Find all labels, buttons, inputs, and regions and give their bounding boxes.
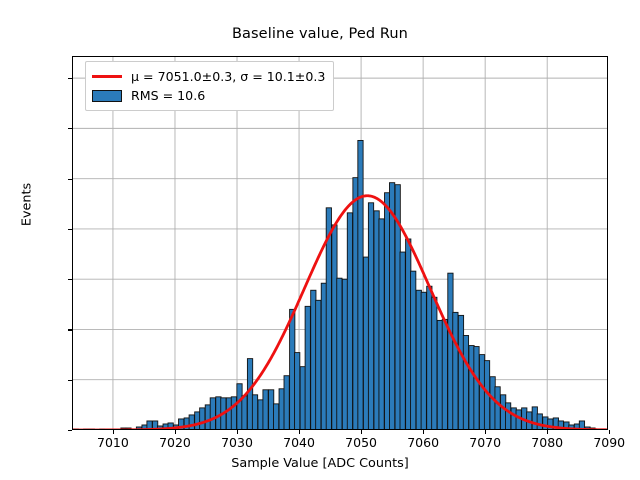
x-tick-mark [423, 430, 424, 434]
figure-canvas: Baseline value, Ped Run 0501001502002503… [0, 0, 640, 480]
x-tick-label: 7030 [221, 435, 253, 450]
gaussian-fit-curve [72, 56, 608, 430]
red-line-swatch-icon [92, 75, 122, 78]
blue-patch-swatch-icon [92, 90, 122, 102]
x-tick-mark [547, 430, 548, 434]
x-tick-mark [237, 430, 238, 434]
x-tick-label: 7020 [159, 435, 191, 450]
x-tick-label: 7090 [593, 435, 625, 450]
x-tick-mark [361, 430, 362, 434]
x-tick-label: 7010 [97, 435, 129, 450]
legend-item-fit: μ = 7051.0±0.3, σ = 10.1±0.3 [92, 67, 325, 86]
legend-label-rms: RMS = 10.6 [131, 88, 205, 103]
x-tick-label: 7050 [345, 435, 377, 450]
legend: μ = 7051.0±0.3, σ = 10.1±0.3 RMS = 10.6 [85, 61, 334, 111]
x-tick-mark [485, 430, 486, 434]
x-tick-mark [299, 430, 300, 434]
legend-label-fit: μ = 7051.0±0.3, σ = 10.1±0.3 [131, 69, 325, 84]
x-tick-label: 7040 [283, 435, 315, 450]
x-tick-mark [609, 430, 610, 434]
y-tick-mark [68, 430, 72, 431]
legend-item-rms: RMS = 10.6 [92, 86, 325, 105]
x-tick-label: 7080 [531, 435, 563, 450]
y-axis-label: Events [20, 105, 35, 305]
x-tick-mark [175, 430, 176, 434]
plot-area [72, 56, 608, 430]
x-axis-label: Sample Value [ADC Counts] [0, 456, 640, 471]
page-title: Baseline value, Ped Run [0, 26, 640, 42]
x-tick-mark [113, 430, 114, 434]
x-tick-label: 7070 [469, 435, 501, 450]
x-tick-label: 7060 [407, 435, 439, 450]
